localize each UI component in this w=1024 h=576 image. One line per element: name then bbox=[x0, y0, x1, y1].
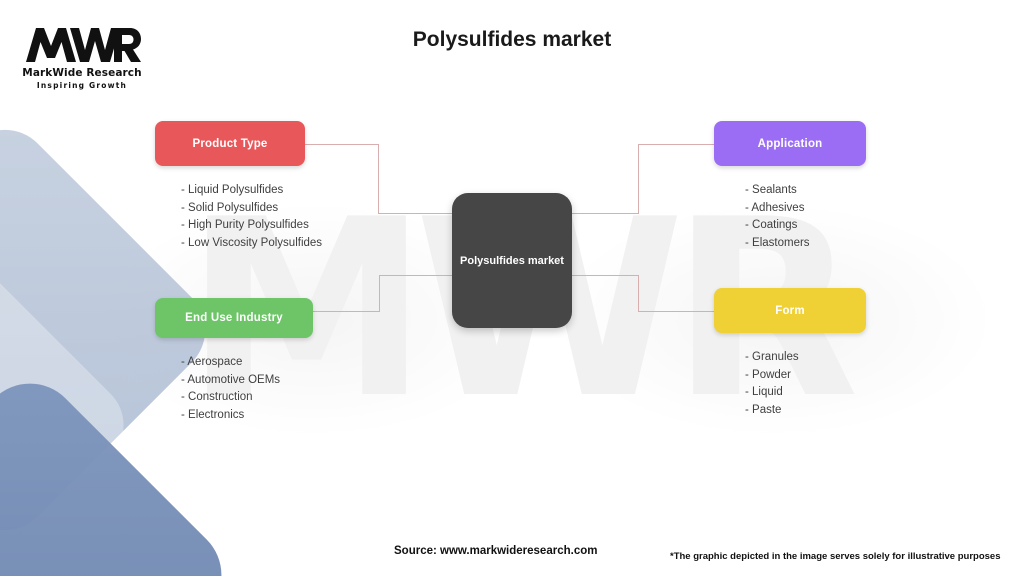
category-product-type-list: - Liquid Polysulfides - Solid Polysulfid… bbox=[155, 182, 322, 252]
center-node[interactable]: Polysulfides market bbox=[452, 193, 572, 328]
list-item: - Construction bbox=[181, 389, 313, 407]
category-application-list: - Sealants - Adhesives - Coatings - Elas… bbox=[714, 182, 866, 252]
category-end-use-industry-header[interactable]: End Use Industry bbox=[155, 298, 313, 338]
category-end-use-industry: End Use Industry - Aerospace - Automotiv… bbox=[155, 298, 313, 424]
connector-application-v bbox=[638, 144, 639, 214]
category-product-type-label: Product Type bbox=[192, 138, 267, 150]
connector-form-v bbox=[638, 275, 639, 312]
list-item: - Automotive OEMs bbox=[181, 372, 313, 390]
list-item: - High Purity Polysulfides bbox=[181, 217, 322, 235]
connector-application-h2 bbox=[638, 144, 714, 145]
brand-tagline: Inspiring Growth bbox=[22, 81, 142, 90]
page-title: Polysulfides market bbox=[0, 28, 1024, 52]
category-product-type: Product Type - Liquid Polysulfides - Sol… bbox=[155, 121, 322, 252]
list-item: - Paste bbox=[745, 402, 866, 420]
list-item: - Powder bbox=[745, 367, 866, 385]
infographic-canvas: MWR MarkWide Research Inspiring Growth P… bbox=[0, 0, 1024, 576]
list-item: - Elastomers bbox=[745, 235, 866, 253]
category-form-list: - Granules - Powder - Liquid - Paste bbox=[714, 349, 866, 419]
category-form: Form - Granules - Powder - Liquid - Past… bbox=[714, 288, 866, 419]
decorative-diamond-white bbox=[0, 248, 142, 576]
connector-end-use-h2 bbox=[379, 275, 455, 276]
list-item: - Electronics bbox=[181, 407, 313, 425]
list-item: - Adhesives bbox=[745, 200, 866, 218]
connector-end-use-h1 bbox=[312, 311, 380, 312]
category-application: Application - Sealants - Adhesives - Coa… bbox=[714, 121, 866, 252]
source-text: Source: www.markwideresearch.com bbox=[394, 545, 597, 557]
connector-form-h1 bbox=[570, 275, 639, 276]
connector-product-type-h2 bbox=[378, 213, 454, 214]
list-item: - Sealants bbox=[745, 182, 866, 200]
category-application-label: Application bbox=[758, 138, 823, 150]
list-item: - Aerospace bbox=[181, 354, 313, 372]
list-item: - Low Viscosity Polysulfides bbox=[181, 235, 322, 253]
center-node-label: Polysulfides market bbox=[460, 255, 564, 267]
category-end-use-industry-label: End Use Industry bbox=[185, 312, 283, 324]
list-item: - Granules bbox=[745, 349, 866, 367]
list-item: - Liquid bbox=[745, 384, 866, 402]
list-item: - Solid Polysulfides bbox=[181, 200, 322, 218]
category-product-type-header[interactable]: Product Type bbox=[155, 121, 305, 166]
category-end-use-industry-list: - Aerospace - Automotive OEMs - Construc… bbox=[155, 354, 313, 424]
disclaimer-text: *The graphic depicted in the image serve… bbox=[670, 551, 1001, 562]
brand-name: MarkWide Research bbox=[22, 67, 142, 79]
list-item: - Coatings bbox=[745, 217, 866, 235]
connector-product-type-v bbox=[378, 144, 379, 214]
category-form-label: Form bbox=[775, 305, 805, 317]
connector-end-use-v bbox=[379, 275, 380, 312]
list-item: - Liquid Polysulfides bbox=[181, 182, 322, 200]
category-application-header[interactable]: Application bbox=[714, 121, 866, 166]
category-form-header[interactable]: Form bbox=[714, 288, 866, 333]
connector-application-h1 bbox=[570, 213, 639, 214]
connector-form-h2 bbox=[638, 311, 714, 312]
